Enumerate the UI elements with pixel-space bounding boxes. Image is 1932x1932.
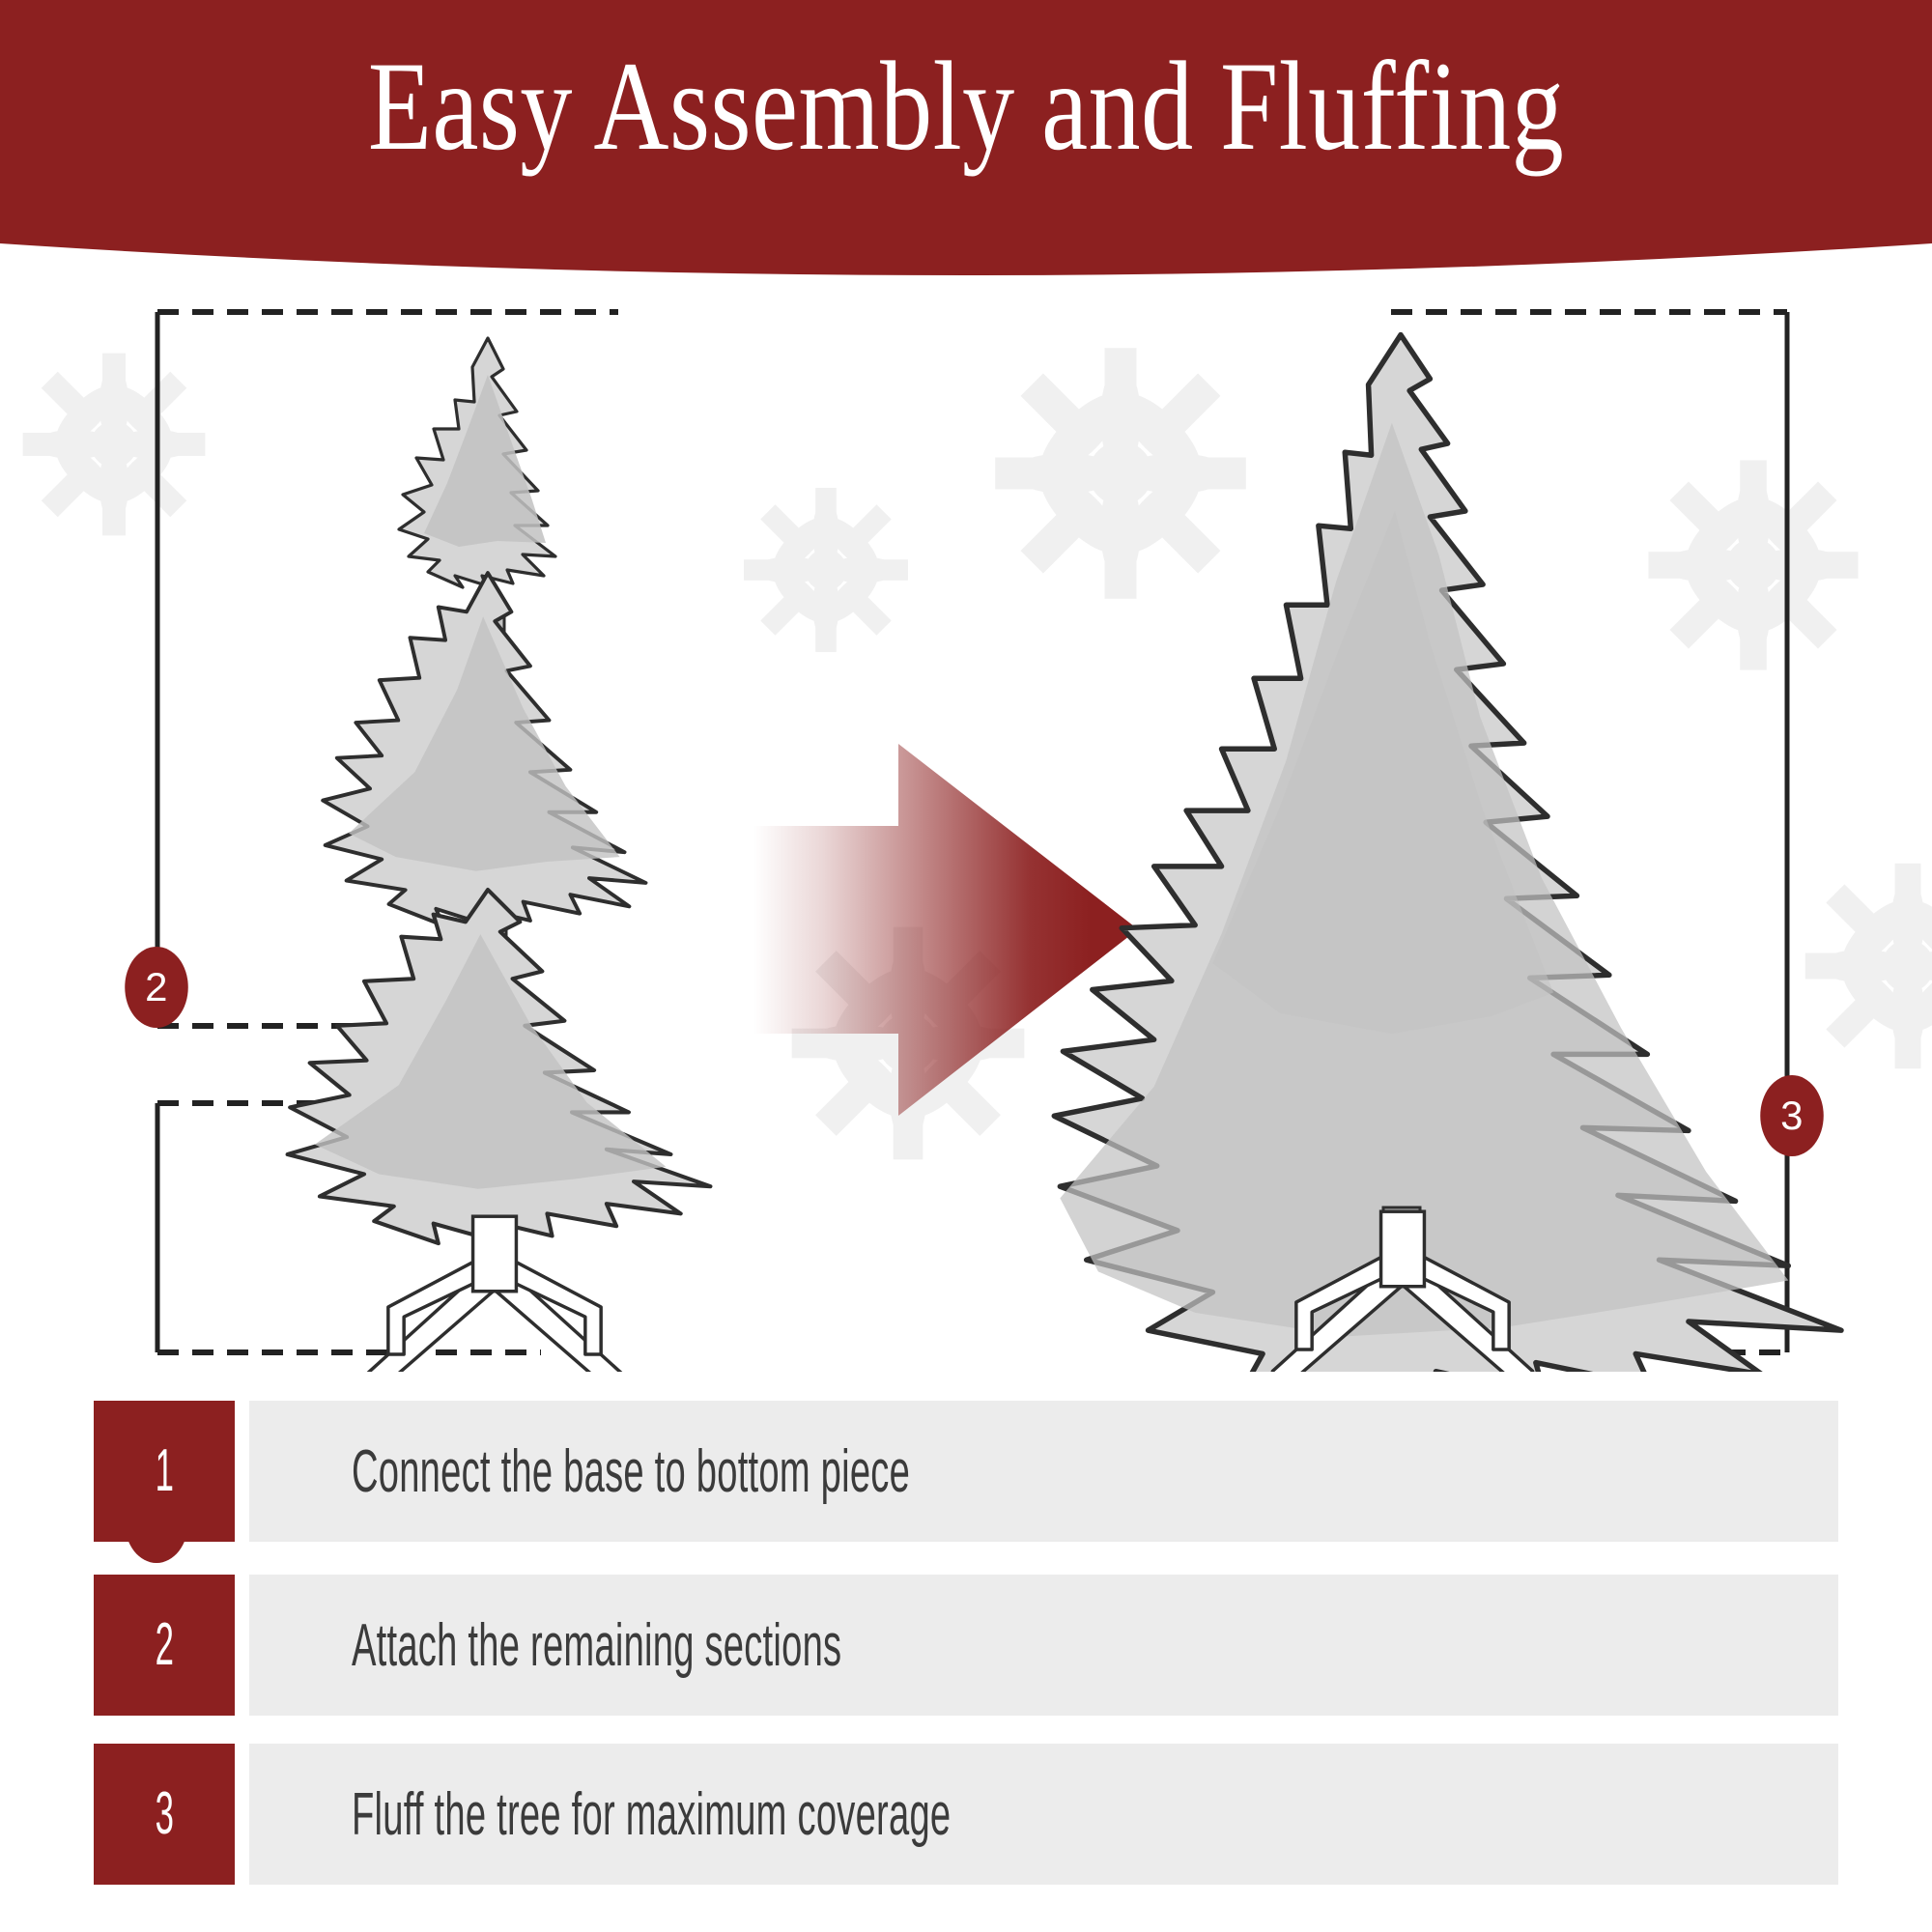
snowflake-icon (995, 348, 1246, 599)
header-banner: Easy Assembly and Fluffing (0, 0, 1932, 290)
assembly-diagram: 2 1 3 (0, 290, 1932, 1372)
step-row-2[interactable]: 2 Attach the remaining sections (94, 1575, 1838, 1716)
diagram-marker-2[interactable]: 2 (125, 947, 188, 1028)
step-list: 1 Connect the base to bottom piece 2 Att… (0, 1391, 1932, 1932)
diagram-marker-3-label: 3 (1780, 1095, 1803, 1136)
step-number-box-2: 2 (94, 1575, 235, 1716)
tree-middle-section (323, 573, 645, 925)
diagram-marker-2-label: 2 (145, 967, 167, 1008)
step-text-2: Attach the remaining sections (352, 1575, 841, 1716)
step-number-box-3: 3 (94, 1744, 235, 1885)
step-row-3[interactable]: 3 Fluff the tree for maximum coverage (94, 1744, 1838, 1885)
step-number-1: 1 (155, 1441, 173, 1501)
snowflake-icon (1805, 864, 1932, 1068)
step-number-3: 3 (155, 1784, 173, 1844)
diagram-canvas (0, 290, 1932, 1372)
snowflake-icon (23, 354, 206, 536)
snowflake-icon (1648, 460, 1858, 669)
infographic-page: Easy Assembly and Fluffing (0, 0, 1932, 1932)
tree-bottom-section (288, 890, 711, 1243)
disassembled-tree (288, 338, 711, 1372)
step-number-box-1: 1 (94, 1401, 235, 1542)
diagram-marker-3[interactable]: 3 (1760, 1075, 1824, 1156)
page-title: Easy Assembly and Fluffing (174, 43, 1758, 170)
step-row-1[interactable]: 1 Connect the base to bottom piece (94, 1401, 1838, 1542)
tree-stand (364, 1216, 624, 1372)
step-text-1: Connect the base to bottom piece (352, 1401, 910, 1542)
step-text-3: Fluff the tree for maximum coverage (352, 1744, 951, 1885)
step-number-2: 2 (155, 1615, 173, 1675)
bracket-step-2 (157, 312, 618, 1027)
snowflake-icon (744, 488, 908, 652)
tree-top-section (399, 338, 555, 587)
